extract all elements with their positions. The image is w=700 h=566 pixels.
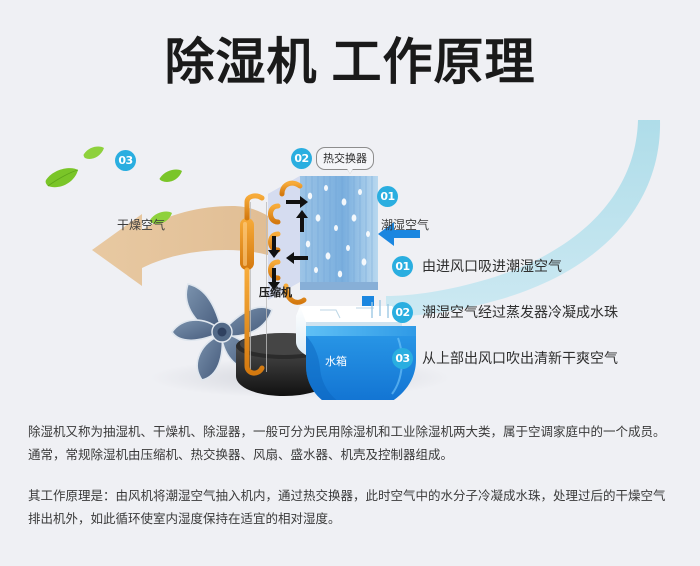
description-block: 除湿机又称为抽湿机、干燥机、除湿器，一般可分为民用除湿机和工业除湿机两大类，属于…: [28, 420, 676, 548]
legend-text-03: 从上部出风口吹出清新干爽空气: [422, 348, 618, 368]
page-title: 除湿机工作原理: [0, 32, 700, 92]
humid-air-label: 潮湿空气: [381, 216, 429, 233]
evaporator-fins-icon: [268, 176, 378, 300]
leaf-icon-group: [46, 146, 182, 224]
legend-badge-01: 01: [392, 256, 413, 277]
compressor-label: 压缩机: [259, 284, 292, 300]
badge-02-heat-exchanger: 02: [291, 148, 312, 169]
legend-badge-03: 03: [392, 348, 413, 369]
water-tank-label: 水箱: [325, 353, 347, 369]
description-paragraph-2: 其工作原理是：由风机将潮湿空气抽入机内，通过热交换器，此时空气中的水分子冷凝成水…: [28, 484, 676, 530]
legend-item: 02 潮湿空气经过蒸发器冷凝成水珠: [392, 300, 692, 324]
badge-01-humid-air: 01: [377, 186, 398, 207]
title-part-2: 工作原理: [332, 33, 536, 91]
legend-item: 03 从上部出风口吹出清新干爽空气: [392, 346, 692, 370]
dry-air-label: 干燥空气: [117, 216, 165, 233]
badge-03-dry-air: 03: [115, 150, 136, 171]
legend-text-01: 由进风口吸进潮湿空气: [422, 256, 562, 276]
accumulator-icon: [240, 218, 254, 270]
legend-text-02: 潮湿空气经过蒸发器冷凝成水珠: [422, 302, 618, 322]
callout-tail-icon: [345, 165, 355, 174]
infographic-page: 除湿机工作原理: [0, 0, 700, 566]
legend-item: 01 由进风口吸进潮湿空气: [392, 254, 692, 278]
legend-badge-02: 02: [392, 302, 413, 323]
description-paragraph-1: 除湿机又称为抽湿机、干燥机、除湿器，一般可分为民用除湿机和工业除湿机两大类，属于…: [28, 420, 676, 466]
title-part-1: 除湿机: [165, 33, 318, 91]
legend-list: 01 由进风口吸进潮湿空气 02 潮湿空气经过蒸发器冷凝成水珠 03 从上部出风…: [392, 254, 692, 392]
